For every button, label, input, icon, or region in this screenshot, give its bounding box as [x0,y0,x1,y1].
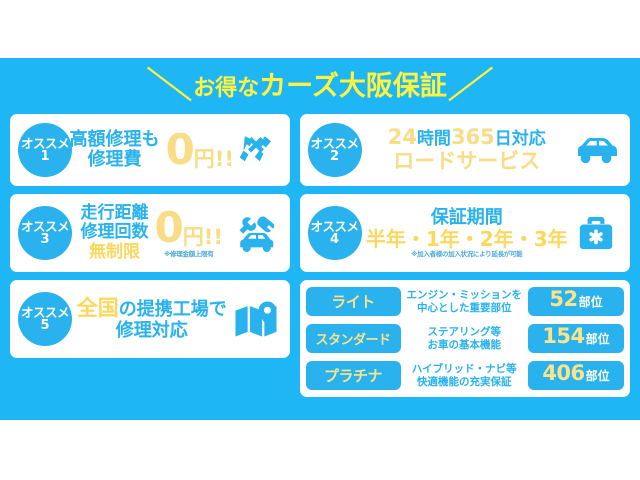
feature-card-4-text: 保証期間 半年・1年・2年・3年 ※加入者様の加入状況により延長が可能 [366,208,568,259]
plan-desc-line-2: 快適機能の充実保証 [407,376,523,389]
page-title-main: カーズ大阪保証 [259,71,447,102]
plan-desc-line-1: ハイブリッド・ナビ等 [407,363,523,376]
badge-label: オススメ [21,306,69,319]
badge-number: 5 [40,319,49,333]
feature-line-2: 半年・1年・2年・3年 [366,228,568,250]
price-note: ※修理金額上限有 [164,248,213,258]
price-row: 0 円!! [166,130,234,170]
plan-count-unit: 部位 [586,330,610,347]
feature-card-1: オススメ 1 高額修理も 修理費 0 円!! [10,114,290,186]
feature-card-2: オススメ 2 24時間365日対応 ロードサービス [300,114,631,186]
slash-right-decoration: ／ [446,68,493,104]
feature-card-5-text: 全国の提携工場で 修理対応 [77,297,227,341]
days-unit: 日対応 [495,129,546,149]
recommend-badge-3: オススメ 3 [18,206,72,260]
toolbox-icon [570,214,622,252]
feature-line-2: 修理回数 [81,223,149,242]
plan-row[interactable]: プラチナ ハイブリッド・ナビ等 快適機能の充実保証 406 部位 [306,359,625,392]
features-grid: オススメ 1 高額修理も 修理費 0 円!! [0,114,640,397]
page-title-prefix: お得な [193,76,259,101]
plan-row[interactable]: スタンダード ステアリング等 お車の基本機能 154 部位 [306,322,625,355]
badge-number: 2 [330,150,339,164]
plan-count-badge: 154 部位 [528,324,624,353]
plan-row[interactable]: ライト エンジン・ミッションを 中心とした重要部位 52 部位 [306,285,625,318]
badge-label: オススメ [21,137,69,150]
price-amount: 0 [166,130,194,170]
feature-line-1: 全国の提携工場で [77,297,227,321]
badge-label: オススメ [310,137,358,150]
warranty-banner: ＼ お得なカーズ大阪保証 ／ オススメ 1 高額修理も 修理費 0 円!! [0,58,640,420]
feature-line-2: 修理費 [70,150,160,170]
plan-name-platinum[interactable]: プラチナ [306,361,401,390]
plan-description: ステアリング等 お車の基本機能 [407,326,523,351]
price-block: 0 円!! ※修理金額上限有 [155,208,223,259]
badge-number: 4 [330,233,339,247]
recommend-badge-2: オススメ 2 [308,123,362,177]
plan-count-badge: 52 部位 [528,287,624,316]
plan-name-standard[interactable]: スタンダード [306,324,401,353]
recommend-badge-4: オススメ 4 [308,206,362,260]
recommend-badge-1: オススメ 1 [18,123,72,177]
hammer-tools-icon [230,130,282,170]
plan-desc-line-1: ステアリング等 [407,326,523,339]
plan-count-unit: 部位 [586,367,610,384]
badge-number: 3 [40,233,49,247]
plan-name-light[interactable]: ライト [306,287,401,316]
badge-label: オススメ [21,220,69,233]
plan-count-unit: 部位 [579,293,603,310]
price-unit: 円!! [194,150,234,170]
days-number: 365 [451,125,495,149]
hours-number: 24 [388,125,417,149]
hours-unit: 時間 [417,129,451,149]
warranty-note: ※加入者様の加入状況により延長が可能 [366,251,568,258]
feature-line-2: ロードサービス [388,150,546,174]
price-amount: 0 [155,208,183,248]
page-title: お得なカーズ大阪保証 [193,73,447,100]
feature-line-1: 走行距離 [81,204,149,223]
recommend-badge-5: オススメ 5 [18,292,72,346]
feature-card-3-body: 走行距離 修理回数 無制限 0 円!! ※修理金額上限有 [78,204,226,261]
plan-count-badge: 406 部位 [528,361,624,390]
car-icon [570,133,622,167]
nationwide-highlight: 全国 [77,296,119,320]
feature-line-1: 高額修理も [70,130,160,150]
price-block: 0 円!! [166,130,234,170]
banner-header: ＼ お得なカーズ大阪保証 ／ [0,58,640,114]
plan-desc-line-1: エンジン・ミッションを [407,289,523,302]
plan-count-number: 406 [542,361,584,385]
feature-card-2-text: 24時間365日対応 ロードサービス [388,126,546,173]
map-pin-icon [230,300,282,338]
feature-card-4-body: 保証期間 半年・1年・2年・3年 ※加入者様の加入状況により延長が可能 [368,208,567,259]
feature-card-3-text: 走行距離 修理回数 無制限 [81,204,149,261]
feature-card-5: オススメ 5 全国の提携工場で 修理対応 [10,280,290,358]
slash-left-decoration: ＼ [147,68,194,104]
plan-list: ライト エンジン・ミッションを 中心とした重要部位 52 部位 スタンダード ス… [300,280,631,397]
feature-card-2-body: 24時間365日対応 ロードサービス [368,126,567,173]
plan-desc-line-2: 中心とした重要部位 [407,302,523,315]
plan-description: エンジン・ミッションを 中心とした重要部位 [407,289,523,314]
feature-line-1: 保証期間 [366,208,568,228]
plan-count-number: 154 [542,324,584,348]
car-wrench-icon [230,212,282,254]
plan-count-number: 52 [549,287,577,311]
badge-label: オススメ [310,220,358,233]
feature-line-2: 修理対応 [77,321,227,341]
feature-line-1: 24時間365日対応 [388,126,546,150]
plan-description: ハイブリッド・ナビ等 快適機能の充実保証 [407,363,523,388]
plan-desc-line-2: お車の基本機能 [407,339,523,352]
price-unit: 円!! [183,228,223,248]
feature-card-3: オススメ 3 走行距離 修理回数 無制限 0 円!! ※修理金額上限有 [10,194,290,272]
feature-card-1-body: 高額修理も 修理費 0 円!! [78,130,226,170]
feature-card-1-text: 高額修理も 修理費 [70,130,160,170]
badge-number: 1 [40,150,49,164]
nationwide-rest: の提携工場で [119,299,227,320]
feature-card-4: オススメ 4 保証期間 半年・1年・2年・3年 ※加入者様の加入状況により延長が… [300,194,631,272]
price-row: 0 円!! [155,208,223,248]
feature-card-5-body: 全国の提携工場で 修理対応 [78,297,226,341]
feature-line-3: 無制限 [81,243,149,262]
